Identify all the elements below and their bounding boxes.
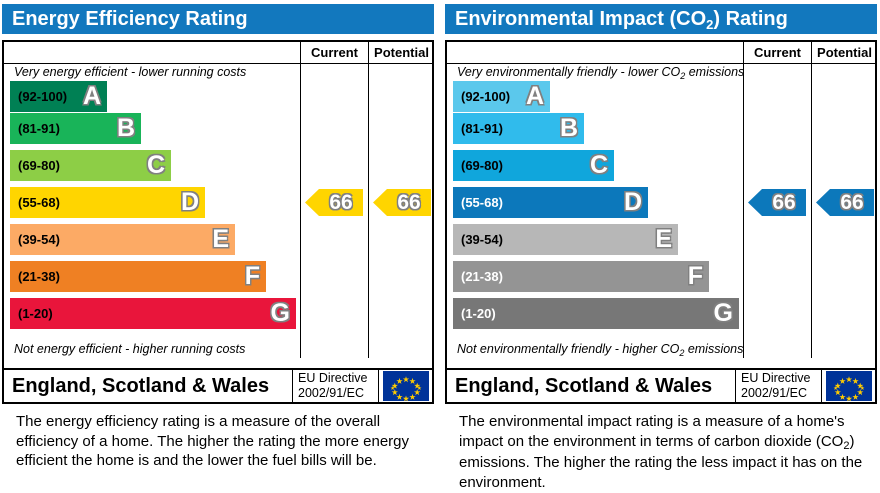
band-a: (92-100) A — [453, 81, 550, 112]
current-rating-value: 66 — [319, 187, 363, 218]
chart-description: The environmental impact rating is a mea… — [459, 412, 869, 492]
band-letter: C — [590, 150, 608, 181]
band-letter: F — [245, 261, 260, 292]
band-range: (55-68) — [461, 187, 503, 218]
caption-bottom: Not energy efficient - higher running co… — [4, 341, 299, 358]
band-letter: A — [526, 81, 544, 112]
band-f: (21-38) F — [10, 261, 266, 292]
chart-description: The energy efficiency rating is a measur… — [16, 412, 426, 471]
caption-top: Very energy efficient - lower running co… — [4, 64, 299, 81]
desc-part-1: The environmental impact rating is a mea… — [459, 413, 845, 450]
band-letter: G — [271, 298, 290, 329]
band-range: (1-20) — [461, 298, 496, 329]
band-list: (92-100) A (81-91) B (69-80) C (55-68) D… — [447, 81, 742, 341]
band-letter: B — [117, 113, 135, 144]
current-rating-arrow: 66 — [748, 187, 806, 218]
band-range: (81-91) — [18, 113, 60, 144]
band-list: (92-100) A (81-91) B (69-80) C (55-68) D… — [4, 81, 299, 341]
potential-rating-value: 66 — [387, 187, 431, 218]
footer-box: England, Scotland & Wales EU Directive 2… — [2, 368, 434, 404]
chart-header-row: Current Potential — [4, 42, 432, 64]
band-range: (21-38) — [18, 261, 60, 292]
band-range: (92-100) — [18, 81, 67, 112]
band-letter: E — [212, 224, 229, 255]
band-c: (69-80) C — [453, 150, 614, 181]
current-rating-arrow: 66 — [305, 187, 363, 218]
caption-bottom: Not environmentally friendly - higher CO… — [447, 341, 742, 358]
caption-bottom-subscript: 2 — [679, 348, 684, 358]
footer-flag-cell — [378, 370, 432, 402]
caption-bottom-text: Not energy efficient - higher running co… — [14, 342, 245, 356]
band-g: (1-20) G — [10, 298, 296, 329]
directive-line-2: 2002/91/EC — [741, 386, 821, 401]
band-range: (69-80) — [18, 150, 60, 181]
caption-top-text: Very environmentally friendly - lower CO — [457, 65, 680, 79]
band-letter: F — [688, 261, 703, 292]
column-separator-1 — [300, 64, 301, 358]
band-e: (39-54) E — [453, 224, 678, 255]
band-letter: C — [147, 150, 165, 181]
band-f: (21-38) F — [453, 261, 709, 292]
rating-chart-box: Current Potential Very environmentally f… — [445, 40, 877, 402]
panel-title: Energy Efficiency Rating — [2, 4, 434, 34]
band-d: (55-68) D — [453, 187, 648, 218]
caption-top-text: Very energy efficient - lower running co… — [14, 65, 246, 79]
panel-title-subscript: 2 — [706, 17, 713, 32]
potential-rating-arrow: 66 — [816, 187, 874, 218]
band-letter: G — [714, 298, 733, 329]
band-range: (55-68) — [18, 187, 60, 218]
eu-flag-icon — [383, 371, 429, 401]
footer-directive-label: EU Directive 2002/91/EC — [292, 370, 378, 402]
column-separator-2 — [368, 64, 369, 358]
band-b: (81-91) B — [10, 113, 141, 144]
band-range: (69-80) — [461, 150, 503, 181]
footer-country-label: England, Scotland & Wales — [12, 370, 269, 402]
potential-rating-arrow: 66 — [373, 187, 431, 218]
band-range: (39-54) — [18, 224, 60, 255]
column-separator-1 — [743, 64, 744, 358]
potential-rating-value: 66 — [830, 187, 874, 218]
band-range: (92-100) — [461, 81, 510, 112]
band-e: (39-54) E — [10, 224, 235, 255]
desc-subscript: 2 — [843, 440, 849, 452]
band-letter: A — [83, 81, 101, 112]
band-letter: E — [655, 224, 672, 255]
band-c: (69-80) C — [10, 150, 171, 181]
caption-bottom-suffix: emissions — [684, 342, 743, 356]
band-b: (81-91) B — [453, 113, 584, 144]
eu-stars-icon — [826, 371, 872, 401]
band-g: (1-20) G — [453, 298, 739, 329]
footer-flag-cell — [821, 370, 875, 402]
band-letter: D — [624, 187, 642, 218]
column-header-current: Current — [300, 42, 368, 63]
directive-line-1: EU Directive — [741, 371, 821, 386]
rating-chart-box: Current Potential Very energy efficient … — [2, 40, 434, 402]
panel-title-text: Environmental Impact (CO — [455, 8, 706, 30]
panel-title-suffix: ) Rating — [713, 8, 787, 30]
band-range: (1-20) — [18, 298, 53, 329]
footer-directive-label: EU Directive 2002/91/EC — [735, 370, 821, 402]
directive-line-2: 2002/91/EC — [298, 386, 378, 401]
chart-header-row: Current Potential — [447, 42, 875, 64]
band-range: (81-91) — [461, 113, 503, 144]
band-range: (39-54) — [461, 224, 503, 255]
caption-top-suffix: emissions — [685, 65, 744, 79]
band-letter: D — [181, 187, 199, 218]
directive-line-1: EU Directive — [298, 371, 378, 386]
column-header-potential: Potential — [368, 42, 434, 63]
panel-title-text: Energy Efficiency Rating — [12, 8, 248, 30]
band-range: (21-38) — [461, 261, 503, 292]
column-separator-2 — [811, 64, 812, 358]
band-a: (92-100) A — [10, 81, 107, 112]
column-header-potential: Potential — [811, 42, 877, 63]
footer-country-label: England, Scotland & Wales — [455, 370, 712, 402]
band-d: (55-68) D — [10, 187, 205, 218]
column-header-current: Current — [743, 42, 811, 63]
eu-flag-icon — [826, 371, 872, 401]
eu-stars-icon — [383, 371, 429, 401]
epc-chart-page: Energy Efficiency Rating Current Potenti… — [0, 0, 880, 493]
caption-top-subscript: 2 — [680, 71, 685, 81]
caption-bottom-text: Not environmentally friendly - higher CO — [457, 342, 679, 356]
current-rating-value: 66 — [762, 187, 806, 218]
caption-top: Very environmentally friendly - lower CO… — [447, 64, 742, 81]
footer-box: England, Scotland & Wales EU Directive 2… — [445, 368, 877, 404]
panel-title: Environmental Impact (CO2) Rating — [445, 4, 877, 34]
band-letter: B — [560, 113, 578, 144]
environmental-impact-panel: Environmental Impact (CO2) Rating Curren… — [443, 0, 879, 493]
energy-efficiency-panel: Energy Efficiency Rating Current Potenti… — [0, 0, 436, 493]
